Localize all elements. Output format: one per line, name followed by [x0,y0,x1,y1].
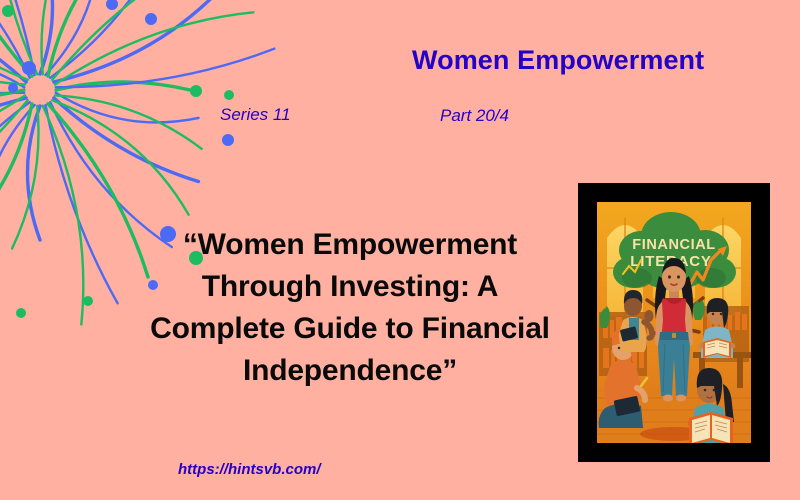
firework-ray [0,0,35,75]
firework-ray [0,104,32,249]
poster-artwork: FINANCIAL LITERACY [597,202,751,443]
firework-ray [54,0,227,82]
confetti-dot-green [83,296,93,306]
firework-ray [48,0,132,76]
firework-ray [55,95,202,148]
firework-ray [40,0,53,74]
confetti-dot-blue [145,13,157,25]
firework-ray [56,93,199,123]
firework-ray [0,0,26,82]
firework-ray [0,90,24,98]
firework-ray [0,93,24,132]
firework-ray [55,12,253,84]
confetti-dot-green [16,308,26,318]
part-label: Part 20/4 [440,106,509,126]
firework-ray [56,49,275,88]
firework-ray [48,104,148,277]
confetti-dot-blue [22,61,36,75]
firework-ray [41,0,67,74]
firework-ray [56,82,190,90]
firework-ray [54,98,199,182]
confetti-dot-green [2,5,14,17]
firework-ray [0,58,24,88]
firework-ray [0,95,25,167]
firework-ray [52,100,188,214]
firework-ray [28,106,41,240]
financial-literacy-poster[interactable]: FINANCIAL LITERACY [578,183,770,462]
confetti-dot-blue [8,83,18,93]
firework-ray [0,31,25,84]
firework-ray [0,105,35,252]
firework-ray [43,106,84,325]
firework-ray [45,105,117,303]
page-title: Women Empowerment [412,45,704,76]
series-label: Series 11 [220,105,291,125]
firework-ray [0,98,26,198]
confetti-dot-green [190,85,202,97]
poster-canvas: Women Empowerment Series 11 Part 20/4 “W… [0,0,800,500]
poster-headline-line1: FINANCIAL [632,237,716,253]
confetti-dot-green [224,90,234,100]
firework-ray [52,0,197,80]
main-quote: “Women Empowerment Through Investing: A … [135,224,565,392]
firework-ray [0,0,28,80]
firework-ray [50,0,164,78]
confetti-dot-blue [222,134,234,146]
firework-ray [0,0,30,78]
firework-ray [0,0,37,74]
website-url-link[interactable]: https://hintsvb.com/ [178,461,321,478]
firework-ray [0,102,30,238]
firework-ray [45,0,99,75]
firework-ray [12,106,38,249]
confetti-dot-blue [106,0,118,10]
firework-ray [0,100,28,221]
firework-ray [0,0,32,76]
